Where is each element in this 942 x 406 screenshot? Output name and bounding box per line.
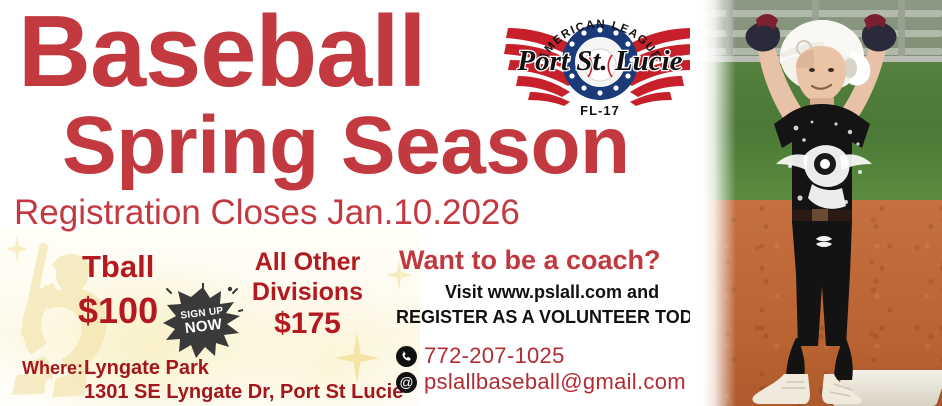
all-other-divisions-label: All Other Divisions — [245, 247, 370, 307]
player-figure — [700, 6, 942, 406]
registration-deadline-text: Registration Closes Jan.10.2026 — [14, 195, 520, 230]
phone-contact-row[interactable]: 772-207-1025 — [396, 343, 565, 369]
tball-price: $100 — [78, 292, 158, 330]
tball-label: Tball — [82, 250, 154, 283]
baseball-registration-banner: Baseball Spring Season Registration Clos… — [0, 0, 942, 406]
coach-volunteer-line: REGISTER AS A VOLUNTEER TODAY — [396, 307, 716, 328]
coach-heading: Want to be a coach? — [399, 246, 661, 274]
logo-script-text: Port St. Lucie — [516, 45, 682, 77]
logo-bottom-text: FL-17 — [580, 103, 620, 118]
sign-up-now-badge-text: SIGN UP NOW — [159, 278, 248, 365]
phone-number: 772-207-1025 — [424, 343, 565, 369]
player-photo — [690, 0, 942, 406]
email-address: pslallbaseball@gmail.com — [424, 369, 686, 395]
svg-text:@: @ — [399, 374, 413, 390]
american-league-port-st-lucie-logo: AMERICAN LEAGUE Port St. Lucie FL-17 — [500, 2, 700, 122]
all-other-divisions-price: $175 — [245, 308, 370, 340]
email-contact-row[interactable]: @ pslallbaseball@gmail.com — [396, 369, 686, 395]
page-title: Baseball — [18, 2, 425, 103]
photo-left-fade — [690, 0, 736, 406]
coach-website-line: Visit www.pslall.com and — [445, 282, 659, 303]
venue-name: Lyngate Park — [84, 357, 209, 380]
at-sign-icon: @ — [396, 372, 417, 393]
phone-icon — [396, 346, 417, 367]
venue-address: 1301 SE Lyngate Dr, Port St Lucie — [84, 381, 403, 404]
all-other-divisions-line2: Divisions — [252, 278, 363, 306]
all-other-divisions-line1: All Other — [255, 248, 361, 276]
badge-line-2: NOW — [184, 317, 223, 337]
where-label: Where: — [22, 358, 83, 379]
